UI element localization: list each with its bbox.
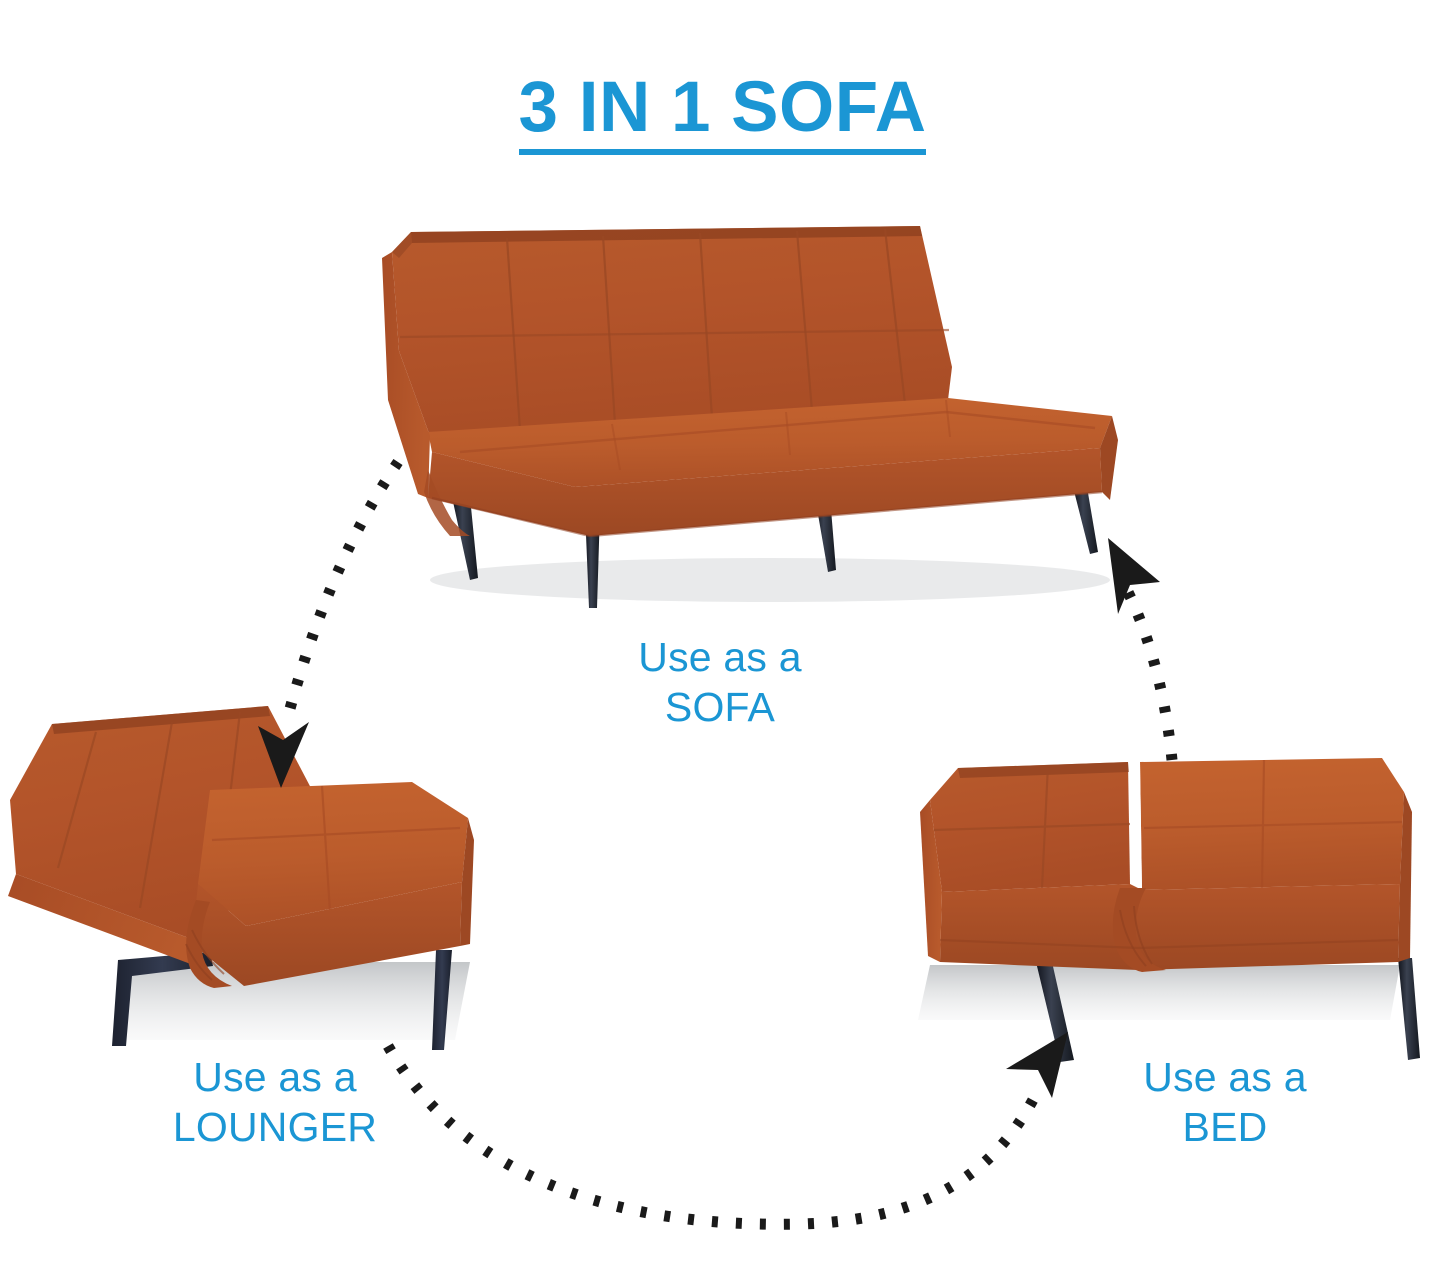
- infographic-canvas: 3 IN 1 SOFA: [0, 0, 1445, 1275]
- bed-base-skirt: [940, 884, 1400, 970]
- product-illustration-bed: [918, 758, 1420, 1062]
- bed-leg-right: [1398, 958, 1420, 1060]
- sofa-floor-shadow: [430, 558, 1110, 602]
- caption-lounger: Use as a LOUNGER: [60, 1052, 490, 1152]
- bed-center-split: [1130, 762, 1142, 890]
- caption-sofa: Use as a SOFA: [505, 632, 935, 732]
- product-illustration-lounger: [8, 706, 474, 1050]
- product-illustration-sofa: [382, 226, 1118, 608]
- bed-floor-shadow: [918, 965, 1400, 1020]
- caption-bed: Use as a BED: [1010, 1052, 1440, 1152]
